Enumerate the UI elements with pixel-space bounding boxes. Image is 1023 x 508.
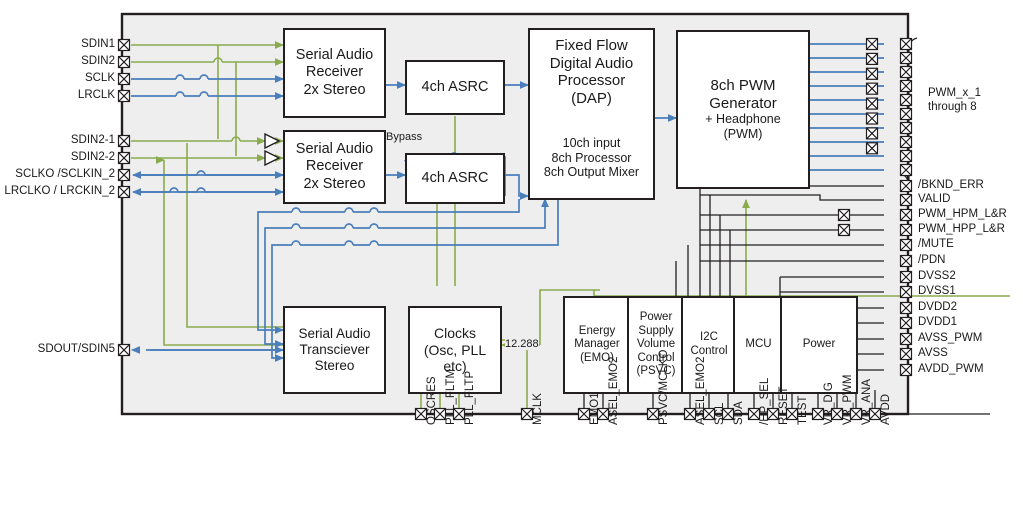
pin-label-bottom-8: SCL (714, 403, 726, 425)
pin-label-right-17: DVSS1 (918, 285, 956, 297)
pin-square-right-22[interactable] (901, 365, 912, 376)
pin-label-right-19: DVDD1 (918, 316, 957, 328)
block-digital-audio-processor[interactable]: Fixed Flow Digital Audio Processor (DAP)… (528, 28, 655, 200)
dap-sub-2: 8ch Processor (552, 151, 632, 166)
pin-square-right-14[interactable] (901, 240, 912, 251)
pin-square-right-21[interactable] (901, 349, 912, 360)
pin-square-left-3[interactable] (119, 91, 130, 102)
pin-square-left-7[interactable] (119, 187, 130, 198)
block-pwm-generator[interactable]: 8ch PWM Generator + Headphone (PWM) (676, 30, 810, 189)
pin-square-right-9[interactable] (901, 165, 912, 176)
pwm-group-label: PWM_x_1 through 8 (928, 86, 981, 115)
pin-square-bottom-7[interactable] (685, 409, 696, 420)
rx2-line-2: Receiver (306, 158, 363, 175)
pin-label-left-2: SCLK (85, 72, 115, 84)
pin-square-pwm-inner-6[interactable] (867, 128, 878, 139)
pin-label-bottom-0: OSCRES (426, 376, 438, 425)
pin-square-hpp-tap[interactable] (839, 225, 850, 236)
pin-square-left-5[interactable] (119, 153, 130, 164)
pin-square-right-7[interactable] (901, 137, 912, 148)
pin-square-right-19[interactable] (901, 318, 912, 329)
pin-label-left-4: SDIN2-1 (71, 134, 115, 146)
pwm-line-1: 8ch PWM (710, 77, 775, 95)
pin-square-left-0[interactable] (119, 40, 130, 51)
i2c-line-1: I2C (700, 331, 718, 345)
pin-label-left-0: SDIN1 (81, 38, 115, 50)
pin-square-bottom-13[interactable] (813, 409, 824, 420)
pin-label-bottom-9: SDA (733, 401, 745, 425)
pin-square-right-10[interactable] (901, 181, 912, 192)
pin-label-left-8: SDOUT/SDIN5 (38, 343, 115, 355)
dap-sub-3: 8ch Output Mixer (544, 165, 639, 180)
pin-square-pwm-inner-0[interactable] (867, 39, 878, 50)
pin-label-bottom-16: AVDD (880, 394, 892, 425)
dap-line-2: Digital Audio (550, 55, 633, 73)
pin-square-bottom-4[interactable] (579, 409, 590, 420)
block-i2c-control[interactable]: I2C Control (681, 296, 737, 394)
pin-square-bottom-0[interactable] (416, 409, 427, 420)
pwm-sub-1: + Headphone (705, 112, 780, 127)
pin-square-left-8[interactable] (119, 345, 130, 356)
pin-label-left-3: LRCLK (78, 89, 115, 101)
pwm-group-line-2: through 8 (928, 100, 981, 114)
dap-line-3: Processor (558, 72, 626, 90)
dap-line-1: Fixed Flow (555, 37, 628, 55)
block-serial-audio-transceiver[interactable]: Serial Audio Transciever Stereo (283, 306, 386, 394)
pin-label-bottom-12: TEST (797, 396, 809, 425)
pin-label-left-1: SDIN2 (81, 55, 115, 67)
pin-label-right-11: VALID (918, 193, 950, 205)
pin-label-bottom-14: VR_PWM (842, 375, 854, 425)
clock-frequency-label: 12.288 (505, 338, 539, 350)
block-serial-audio-receiver-1[interactable]: Serial Audio Receiver 2x Stereo (283, 28, 386, 118)
pin-label-left-6: SCLKO /SCLKIN_2 (15, 168, 115, 180)
pin-square-right-20[interactable] (901, 334, 912, 345)
pin-label-right-12: PWM_HPM_L&R (918, 208, 1007, 220)
pin-label-right-22: AVDD_PWM (918, 363, 984, 375)
pin-square-right-8[interactable] (901, 151, 912, 162)
emo-line-1: Energy (579, 325, 615, 339)
psvc-line-1: Power (640, 311, 673, 325)
pin-label-bottom-5: ASEL_EMO2 (608, 357, 620, 425)
block-asrc-1[interactable]: 4ch ASRC (405, 60, 505, 115)
pin-label-bottom-4: EMO1 (589, 392, 601, 425)
pin-square-pwm-inner-2[interactable] (867, 68, 878, 79)
pin-square-left-4[interactable] (119, 136, 130, 147)
clocks-line-1: Clocks (434, 325, 476, 342)
pin-square-left-2[interactable] (119, 74, 130, 85)
pin-label-bottom-13: VR_DIG (823, 382, 835, 425)
pin-square-right-13[interactable] (901, 225, 912, 236)
block-asrc-2[interactable]: 4ch ASRC (405, 153, 505, 204)
block-serial-audio-receiver-2[interactable]: Serial Audio Receiver 2x Stereo (283, 130, 386, 204)
pin-square-left-1[interactable] (119, 57, 130, 68)
rx1-line-3: 2x Stereo (303, 82, 365, 99)
rx2-line-3: 2x Stereo (303, 176, 365, 193)
pwm-sub-2: (PWM) (724, 127, 763, 142)
pin-label-bottom-7: ASEL_EMO2 (695, 357, 707, 425)
pwm-line-2: Generator (709, 95, 777, 113)
asrc2-label: 4ch ASRC (422, 170, 489, 187)
psvc-line-2: Supply (638, 325, 673, 339)
pin-label-bottom-10: /HP_SEL (759, 378, 771, 425)
clocks-line-2: (Osc, PLL (424, 342, 486, 359)
pin-label-right-13: PWM_HPP_L&R (918, 223, 1005, 235)
power-label: Power (803, 338, 836, 352)
pin-square-right-18[interactable] (901, 303, 912, 314)
pin-square-right-12[interactable] (901, 210, 912, 221)
pin-square-right-3[interactable] (901, 81, 912, 92)
pin-square-pwm-inner-3[interactable] (867, 83, 878, 94)
pin-label-right-20: AVSS_PWM (918, 332, 982, 344)
bypass-label: Bypass (386, 131, 422, 143)
pin-squares-layer (0, 0, 1023, 508)
pin-label-left-5: SDIN2-2 (71, 151, 115, 163)
block-energy-manager[interactable]: Energy Manager (EMO) (563, 296, 631, 394)
asrc1-label: 4ch ASRC (422, 79, 489, 96)
pin-label-bottom-6: PSVC/MCLKO (658, 350, 670, 425)
dap-line-4: (DAP) (571, 90, 612, 108)
pin-square-right-0[interactable] (901, 39, 912, 50)
pin-square-right-5[interactable] (901, 109, 912, 120)
block-diagram-canvas: Serial Audio Receiver 2x Stereo Serial A… (0, 0, 1023, 508)
emo-line-2: Manager (574, 338, 619, 352)
pin-label-right-10: /BKND_ERR (918, 179, 984, 191)
pin-square-pwm-inner-7[interactable] (867, 143, 878, 154)
pin-label-bottom-15: VR_ANA (861, 379, 873, 425)
pin-square-left-6[interactable] (119, 170, 130, 181)
pin-label-bottom-3: MCLK (532, 393, 544, 425)
tx-line-3: Stereo (315, 358, 355, 374)
pin-label-right-14: /MUTE (918, 238, 954, 250)
pin-label-left-7: LRCLKO / LRCKIN_2 (4, 185, 115, 197)
pin-label-right-21: AVSS (918, 347, 948, 359)
pin-square-pwm-inner-4[interactable] (867, 98, 878, 109)
block-power-supply-volume-control[interactable]: Power Supply Volume Control (PSVC) (627, 296, 685, 394)
pin-square-right-17[interactable] (901, 287, 912, 298)
pin-label-bottom-11: RESET (778, 387, 790, 425)
pin-square-right-6[interactable] (901, 123, 912, 134)
pin-label-bottom-2: PLL_FLTP (464, 371, 476, 425)
pin-label-right-15: /PDN (918, 254, 945, 266)
pin-square-bottom-3[interactable] (522, 409, 533, 420)
pin-square-hpm-tap[interactable] (839, 210, 850, 221)
pin-label-right-18: DVDD2 (918, 301, 957, 313)
pin-square-bottom-10[interactable] (749, 409, 760, 420)
pin-label-right-16: DVSS2 (918, 270, 956, 282)
pwm-group-line-1: PWM_x_1 (928, 86, 981, 100)
pin-square-right-16[interactable] (901, 272, 912, 283)
pin-square-right-15[interactable] (901, 256, 912, 267)
pin-label-bottom-1: PLL_FLTM (445, 369, 457, 425)
pin-square-right-1[interactable] (901, 53, 912, 64)
pin-square-right-11[interactable] (901, 195, 912, 206)
tx-line-1: Serial Audio (298, 326, 370, 342)
rx2-line-1: Serial Audio (296, 141, 373, 158)
pin-square-pwm-inner-5[interactable] (867, 113, 878, 124)
pin-square-right-2[interactable] (901, 67, 912, 78)
tx-line-2: Transciever (299, 342, 369, 358)
rx1-line-2: Receiver (306, 64, 363, 81)
pin-square-pwm-inner-1[interactable] (867, 53, 878, 64)
pin-square-right-4[interactable] (901, 95, 912, 106)
mcu-label: MCU (745, 338, 771, 352)
dap-sub-1: 10ch input (563, 136, 621, 151)
pin-square-bottom-6[interactable] (648, 409, 659, 420)
rx1-line-1: Serial Audio (296, 47, 373, 64)
